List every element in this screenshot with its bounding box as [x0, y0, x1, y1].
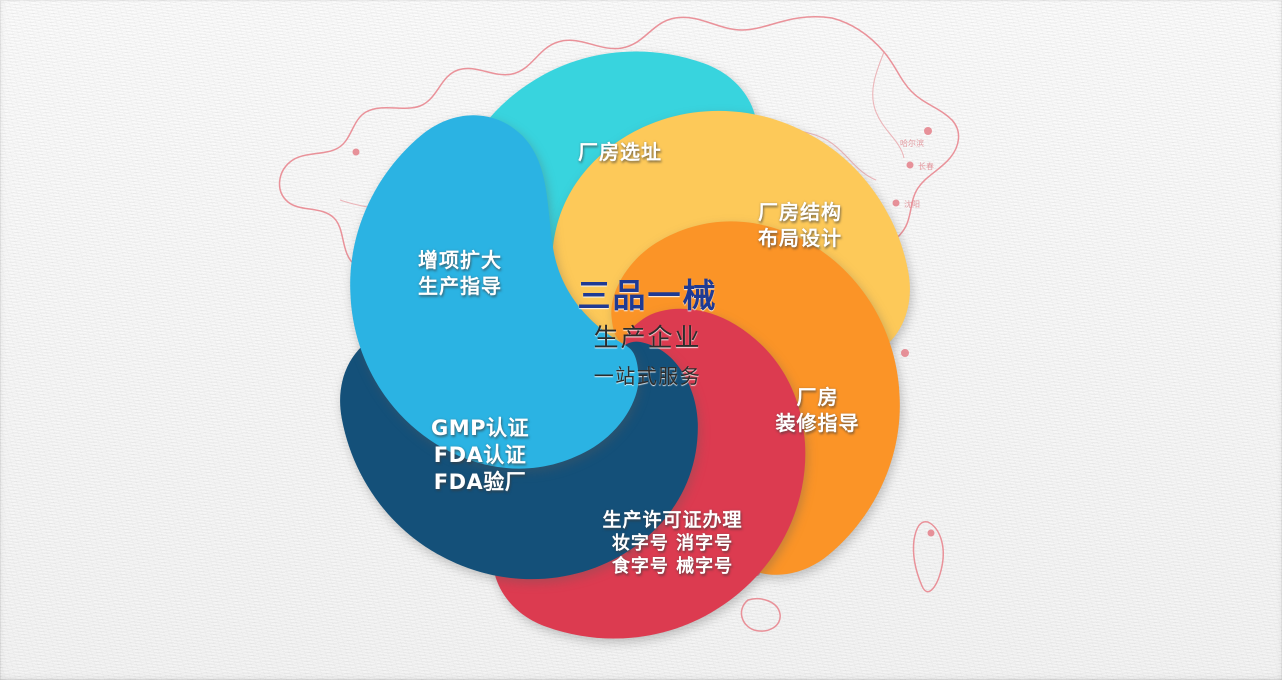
map-dot-haerbin	[924, 127, 932, 135]
map-dot-taibei	[928, 530, 935, 537]
service-pinwheel	[325, 45, 925, 645]
poster-canvas: 哈尔滨 长春 沈阳 北京	[0, 0, 1282, 680]
